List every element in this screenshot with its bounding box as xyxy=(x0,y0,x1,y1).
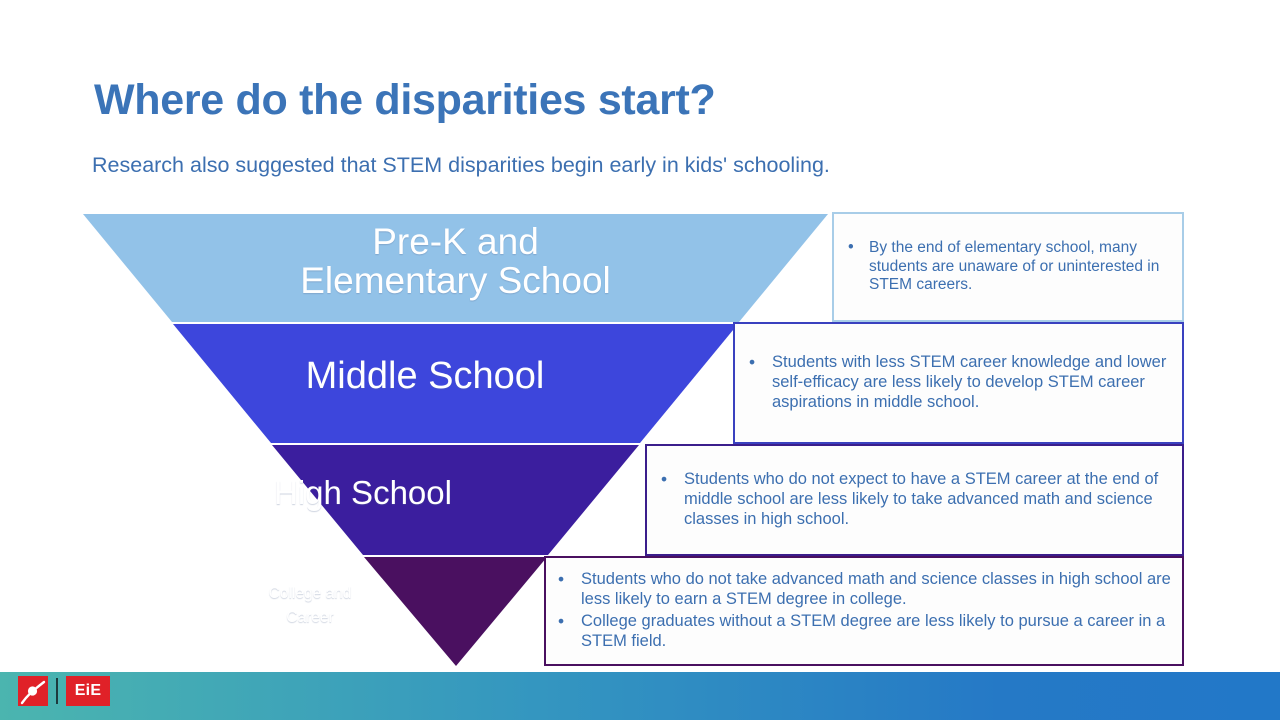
list-item: • Students who do not expect to have a S… xyxy=(661,470,1172,529)
bullet-icon: • xyxy=(558,569,564,590)
list-item: • By the end of elementary school, many … xyxy=(848,239,1170,295)
funnel-segment-pre-k xyxy=(83,214,828,322)
bullet-icon: • xyxy=(661,469,667,490)
footer-logo-group: EiE xyxy=(18,676,110,706)
bullet-icon: • xyxy=(848,238,854,258)
bullet-icon: • xyxy=(558,611,564,632)
comet-swoosh-logo-icon xyxy=(18,676,48,706)
note-panel-pre-k: • By the end of elementary school, many … xyxy=(832,212,1184,322)
note-panel-middle-school: • Students with less STEM career knowled… xyxy=(733,322,1184,444)
page-title: Where do the disparities start? xyxy=(94,76,716,125)
bullet-icon: • xyxy=(749,352,755,373)
page-subtitle: Research also suggested that STEM dispar… xyxy=(92,153,830,178)
list-item: • Students with less STEM career knowled… xyxy=(749,353,1172,412)
note-list: • By the end of elementary school, many … xyxy=(848,239,1170,295)
note-panel-college-career: • Students who do not take advanced math… xyxy=(544,556,1184,666)
note-list: • Students with less STEM career knowled… xyxy=(749,353,1172,412)
note-panel-high-school: • Students who do not expect to have a S… xyxy=(645,444,1184,556)
list-item: • College graduates without a STEM degre… xyxy=(558,612,1172,652)
list-item: • Students who do not take advanced math… xyxy=(558,570,1172,610)
eie-wordmark: EiE xyxy=(66,676,110,706)
logo-divider xyxy=(56,678,58,704)
note-list: • Students who do not expect to have a S… xyxy=(661,470,1172,529)
funnel-segment-college-career xyxy=(364,557,547,666)
funnel-segment-high-school xyxy=(272,445,639,555)
footer-bar xyxy=(0,672,1280,720)
funnel-segment-middle-school xyxy=(173,324,738,443)
note-list: • Students who do not take advanced math… xyxy=(558,570,1172,651)
